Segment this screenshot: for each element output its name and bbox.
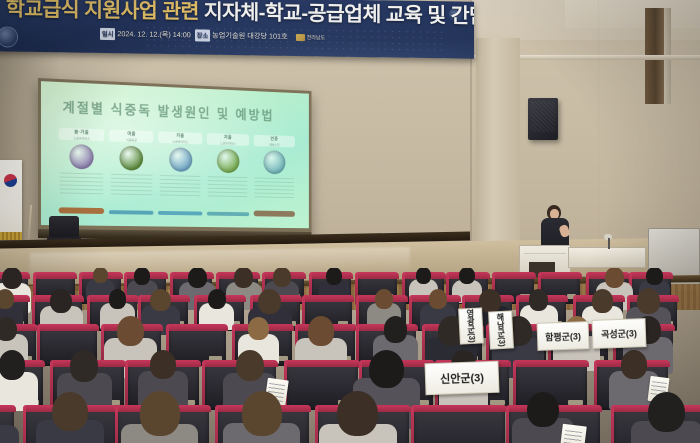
audience-member-head xyxy=(258,289,281,314)
event-banner: 학교급식 지원사업 관련 지자체-학교-공급업체 교육 및 간담회 일시2024… xyxy=(0,0,474,59)
province-name: 전라남도 xyxy=(307,35,325,41)
audience-member-head xyxy=(150,289,171,312)
slide-card-text xyxy=(60,173,103,196)
slide-card-photo xyxy=(263,150,285,174)
audience-member-head xyxy=(375,289,393,309)
banner-texture xyxy=(144,25,444,56)
audience-member-head xyxy=(2,268,22,289)
flag-fringe xyxy=(0,232,22,240)
province-logo-icon xyxy=(296,34,305,41)
seat-region-placard: 곡성군(3) xyxy=(592,318,647,349)
audience-member-head xyxy=(529,289,549,311)
korean-national-flag xyxy=(0,160,22,240)
slide-bottom-bar xyxy=(207,212,250,216)
audience-member-head xyxy=(337,391,378,436)
audience-member-head xyxy=(592,289,614,313)
banner-emblem-right-icon xyxy=(449,7,463,21)
slide-card-photo xyxy=(169,147,192,172)
audience-member-head xyxy=(648,392,685,433)
placard-label: 신안군(3) xyxy=(440,369,484,387)
chair-back xyxy=(49,216,79,238)
slide-card: 연중예방수칙 xyxy=(253,135,295,210)
presentation-slide: 계절별 식중독 발생원인 및 예방법 봄·가을노로바이러스여름식중독균가을노로바… xyxy=(41,81,309,228)
audience-member-head xyxy=(134,268,150,285)
slide-card-sub: 예방수칙 xyxy=(269,141,279,146)
audience-member-head xyxy=(140,391,180,435)
audience-member-head xyxy=(248,317,269,340)
audience-member-head xyxy=(242,391,282,435)
audience-member-head xyxy=(117,316,144,346)
audience-member-head xyxy=(208,289,226,309)
banner-place-label: 장소 xyxy=(195,29,210,41)
audience-member-head xyxy=(188,268,207,288)
banner-datetime-value: 2024. 12. 12.(목) 14:00 xyxy=(117,29,190,39)
slide-card-sub: 노로바이러스 xyxy=(220,140,235,145)
seat-region-placard: 영광군(3) xyxy=(458,307,484,344)
slide-card-text xyxy=(255,177,294,199)
wall-pilaster xyxy=(476,38,520,268)
handout-paper xyxy=(560,423,587,443)
podium-edge xyxy=(524,253,566,254)
audience-member-head xyxy=(236,350,264,381)
audience-member-torso xyxy=(0,425,19,443)
audience-member-head xyxy=(527,392,559,427)
audience-member-head xyxy=(384,316,408,342)
slide-card-photo xyxy=(217,149,240,174)
slide-card-sub: 식중독균 xyxy=(126,137,137,142)
placard-label: 영광군(3) xyxy=(465,309,478,343)
slide-bottom-bar xyxy=(109,210,154,215)
audience-seating xyxy=(0,268,700,443)
audience-member-head xyxy=(52,392,88,431)
slide-card-photo xyxy=(70,144,94,169)
placard-label: 해남군(3) xyxy=(495,313,508,347)
slide-card-row: 봄·가을노로바이러스여름식중독균가을노로바이러스겨울노로바이러스연중예방수칙 xyxy=(59,128,295,210)
slide-card: 봄·가을노로바이러스 xyxy=(59,128,105,206)
auditorium-photo: 학교급식 지원사업 관련 지자체-학교-공급업체 교육 및 간담회 일시2024… xyxy=(0,0,700,443)
slide-card-text xyxy=(208,176,248,198)
audience-member-head xyxy=(416,268,431,284)
slide-card-photo xyxy=(120,146,144,171)
slide-bottom-bar xyxy=(158,211,202,216)
banner-subtitle: 일시2024. 12. 12.(목) 14:00 장소농업기술원 대강당 101… xyxy=(100,28,440,46)
audience-member-head xyxy=(479,289,501,313)
head-table xyxy=(568,247,646,268)
slide-card-tag: 겨울노로바이러스 xyxy=(207,133,250,146)
audience-member-head xyxy=(369,350,404,389)
seat-region-placard: 신안군(3) xyxy=(424,361,499,396)
audience-member-head xyxy=(109,289,127,309)
audience-member-head xyxy=(273,268,291,287)
banner-title-gold: 학교급식 지원사업 관련 xyxy=(6,0,199,23)
audience-member-head xyxy=(308,316,335,345)
audience-member-head xyxy=(93,268,108,283)
slide-card: 여름식중독균 xyxy=(109,130,154,207)
audience-member-head xyxy=(621,350,647,379)
seat-region-placard: 함평군(3) xyxy=(537,321,590,351)
banner-datetime-label: 일시 xyxy=(100,28,115,40)
slide-card-tag: 가을노로바이러스 xyxy=(158,131,202,144)
slide-card: 겨울노로바이러스 xyxy=(207,133,250,209)
audience-member-head xyxy=(50,289,72,313)
slide-card-tag: 연중예방수칙 xyxy=(253,135,295,148)
banner-emblem-left-icon xyxy=(0,26,18,47)
banner-title: 학교급식 지원사업 관련 지자체-학교-공급업체 교육 및 간담회 xyxy=(6,0,466,29)
slide-card-text xyxy=(111,174,153,196)
slide-card-tag: 봄·가을노로바이러스 xyxy=(59,128,105,141)
slide-card-sub: 노로바이러스 xyxy=(172,138,188,143)
taegeuk-icon xyxy=(4,174,17,187)
audience-member-head xyxy=(637,288,660,314)
audience-member-head xyxy=(605,268,624,288)
audience-member-head xyxy=(429,289,447,309)
banner-title-white: 지자체-학교-공급업체 교육 및 간담회 xyxy=(204,1,474,29)
slide-card-text xyxy=(160,175,201,197)
placard-label: 함평군(3) xyxy=(545,329,581,343)
audience-member-head xyxy=(234,268,253,288)
slide-card: 가을노로바이러스 xyxy=(158,131,202,207)
placard-label: 곡성군(3) xyxy=(601,326,637,340)
audience-member-head xyxy=(70,350,99,381)
audience-member-head xyxy=(326,268,342,285)
slide-bottom-bar xyxy=(59,207,105,214)
seat-region-placard: 해남군(3) xyxy=(488,310,514,349)
microphone-stand xyxy=(608,238,610,249)
auditorium-seat xyxy=(413,407,505,443)
slide-card-tag: 여름식중독균 xyxy=(109,130,154,143)
ceiling-soffit xyxy=(565,0,700,28)
audience-member-head xyxy=(150,350,176,379)
slide-card-sub: 노로바이러스 xyxy=(73,135,90,141)
slide-bottom-bar xyxy=(253,211,295,217)
audience-member-head xyxy=(646,268,662,285)
banner-place-value: 농업기술원 대강당 101호 xyxy=(212,31,288,41)
audience-member-head xyxy=(0,350,25,379)
wall-mounted-loudspeaker xyxy=(528,98,558,140)
audience-member-head xyxy=(459,268,475,284)
